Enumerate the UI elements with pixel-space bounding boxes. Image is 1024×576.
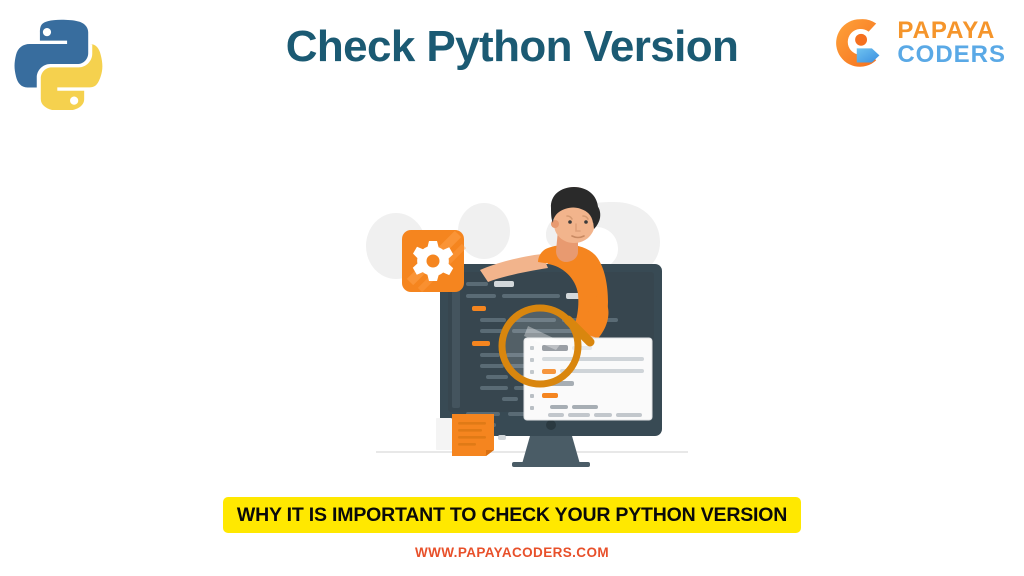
slide-canvas: Check Python Version	[0, 0, 1024, 576]
footer: WHY IT IS IMPORTANT TO CHECK YOUR PYTHON…	[0, 497, 1024, 560]
sticky-note	[436, 414, 494, 456]
gear-badge	[402, 230, 464, 292]
developer-checking-version-illustration	[362, 186, 702, 476]
brand-wordmark: PAPAYA CODERS	[897, 19, 1006, 68]
headline-banner: WHY IT IS IMPORTANT TO CHECK YOUR PYTHON…	[223, 497, 801, 533]
brand-line-papaya: PAPAYA	[897, 19, 1006, 43]
site-url[interactable]: WWW.PAPAYACODERS.COM	[0, 545, 1024, 560]
brand-logo: PAPAYA CODERS	[833, 16, 1006, 70]
headline-wrap: WHY IT IS IMPORTANT TO CHECK YOUR PYTHON…	[0, 497, 1024, 533]
brand-line-coders: CODERS	[897, 43, 1006, 67]
papaya-coders-mark-icon	[833, 16, 887, 70]
